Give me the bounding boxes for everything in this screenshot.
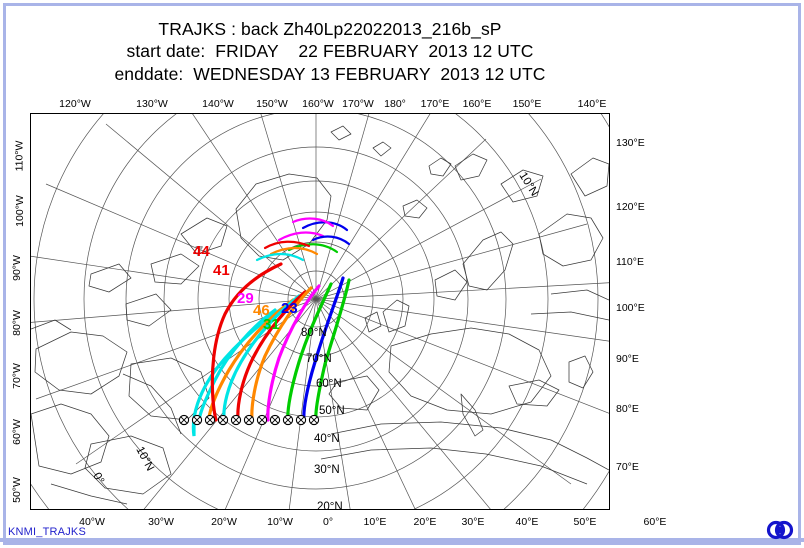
rot-label-10n-left: 10°N	[133, 445, 156, 473]
axis-left-tick-0: 110°W	[4, 150, 26, 162]
axis-top-tick-9: 150°E	[513, 98, 542, 110]
axis-bottom-tick-5: 10°E	[364, 516, 387, 528]
lat-label-20: 20°N	[317, 501, 343, 509]
axis-bottom-tick-9: 50°E	[574, 516, 597, 528]
lat-label-60: 60°N	[316, 378, 342, 390]
knmi-source-label: KNMI_TRAJKS	[8, 526, 86, 538]
axis-right-tick-5: 80°E	[616, 403, 639, 415]
axis-top-tick-0: 120°W	[59, 98, 91, 110]
map-plot-area: 80°N 70°N 60°N 50°N 40°N 30°N 20°N 10°N …	[30, 113, 610, 510]
rot-label-0: 0°	[90, 471, 106, 486]
latitude-labels: 80°N 70°N 60°N 50°N 40°N 30°N 20°N	[301, 327, 345, 509]
chart-title-block: TRAJKS : back Zh40Lp22022013_216b_sP sta…	[0, 18, 660, 85]
axis-top-tick-10: 140°E	[578, 98, 607, 110]
axis-right-tick-3: 100°E	[616, 302, 645, 314]
lat-label-50: 50°N	[319, 405, 345, 417]
polar-stereographic-map: 80°N 70°N 60°N 50°N 40°N 30°N 20°N 10°N …	[31, 114, 609, 509]
hour-label-41: 41	[213, 262, 230, 279]
axis-left-tick-4: 70°W	[4, 370, 26, 382]
axis-bottom-tick-6: 20°E	[414, 516, 437, 528]
axis-right-tick-1: 120°E	[616, 201, 645, 213]
hour-label-44: 44	[193, 243, 210, 260]
lat-label-70: 70°N	[306, 353, 332, 365]
axis-bottom-tick-2: 20°W	[211, 516, 237, 528]
axis-left-tick-5: 60°W	[4, 426, 26, 438]
axis-top-tick-4: 160°W	[302, 98, 334, 110]
trajectory-map-window: TRAJKS : back Zh40Lp22022013_216b_sP sta…	[0, 0, 804, 548]
hour-label-29: 29	[237, 290, 254, 307]
lat-label-40: 40°N	[314, 433, 340, 445]
axis-bottom-tick-3: 10°W	[267, 516, 293, 528]
axis-top-tick-1: 130°W	[136, 98, 168, 110]
axis-bottom-tick-7: 30°E	[462, 516, 485, 528]
hour-label-31: 31	[263, 316, 280, 333]
axis-top-tick-7: 170°E	[421, 98, 450, 110]
title-line-3: enddate: WEDNESDAY 13 FEBRUARY 2013 12 U…	[0, 63, 660, 85]
axis-bottom-tick-1: 30°W	[148, 516, 174, 528]
axis-right-tick-2: 110°E	[616, 256, 644, 268]
axis-right-tick-0: 130°E	[616, 137, 645, 149]
title-line-1: TRAJKS : back Zh40Lp22022013_216b_sP	[0, 18, 660, 40]
lat-label-30: 30°N	[314, 464, 340, 476]
axis-bottom-tick-4: 0°	[323, 516, 333, 528]
axis-top-tick-2: 140°W	[202, 98, 234, 110]
axis-right-tick-6: 70°E	[616, 461, 639, 473]
axis-left-tick-3: 80°W	[4, 317, 26, 329]
lat-label-80: 80°N	[301, 327, 327, 339]
axis-left-tick-2: 90°W	[4, 262, 26, 274]
axis-bottom-tick-10: 60°E	[644, 516, 667, 528]
window-bottom-rule	[0, 538, 804, 542]
axis-left-tick-6: 50°W	[4, 484, 26, 496]
hour-label-23: 23	[281, 300, 298, 317]
axis-top-tick-5: 170°W	[342, 98, 374, 110]
axis-right-tick-4: 90°E	[616, 353, 639, 365]
axis-top-tick-6: 180°	[384, 98, 406, 110]
axis-left-tick-1: 100°W	[4, 205, 26, 217]
axis-top-tick-8: 160°E	[463, 98, 492, 110]
axis-top-tick-3: 150°W	[256, 98, 288, 110]
axis-bottom-tick-8: 40°E	[516, 516, 539, 528]
trajectory-endpoint-markers	[179, 415, 318, 424]
ecmwf-logo	[765, 520, 795, 545]
title-line-2: start date: FRIDAY 22 FEBRUARY 2013 12 U…	[0, 40, 660, 62]
